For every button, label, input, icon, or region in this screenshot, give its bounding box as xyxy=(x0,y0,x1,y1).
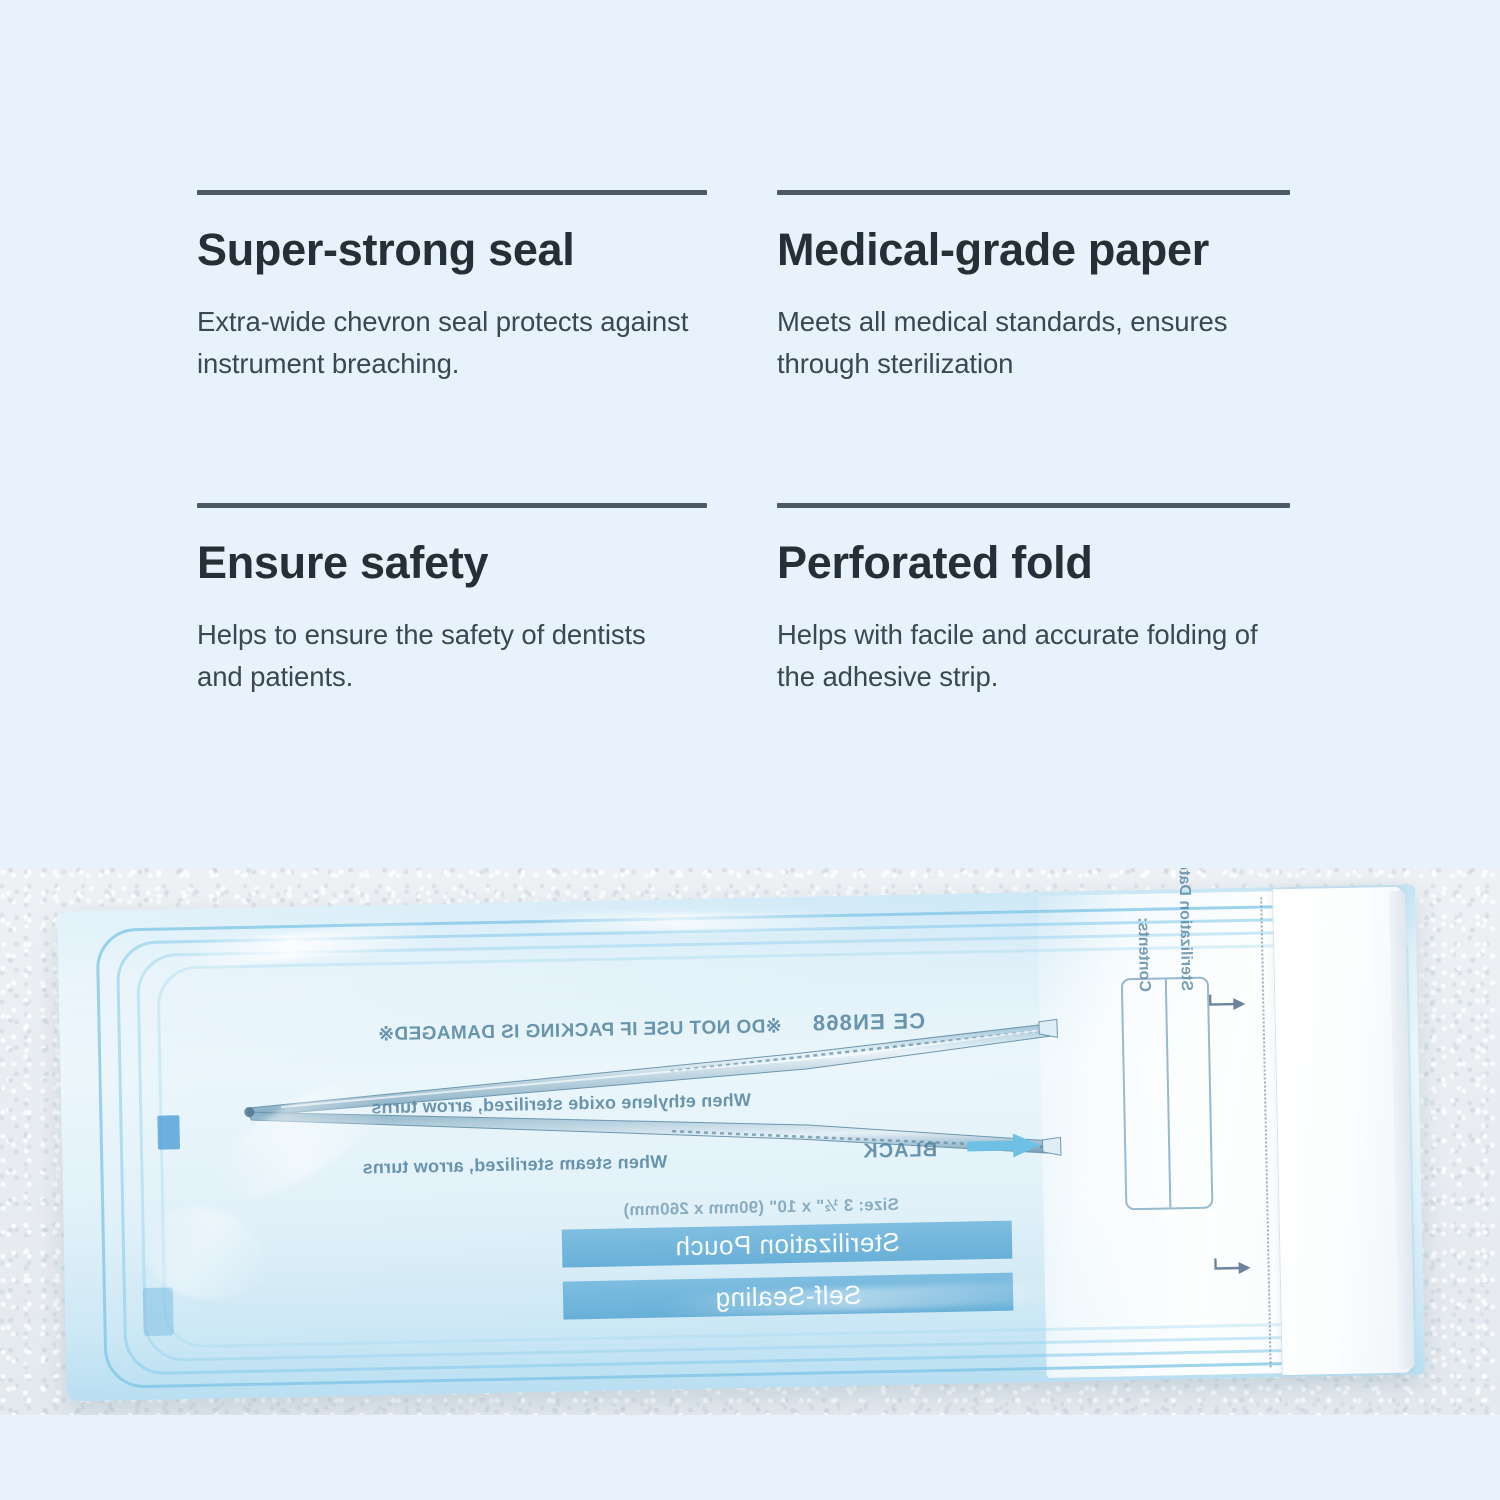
contents-label: Contents: xyxy=(1134,917,1153,992)
sterilization-indicator-arrow-icon xyxy=(967,1132,1042,1159)
feature-title: Super-strong seal xyxy=(197,195,707,275)
sterilization-indicator-patch xyxy=(157,1115,180,1149)
fold-arrow-icon xyxy=(1212,1256,1252,1279)
feature-card-medical-grade-paper: Medical-grade paper Meets all medical st… xyxy=(777,190,1290,503)
sterilization-date-box: Contents: Sterilization Date xyxy=(1121,977,1214,1211)
pouch-subtitle-text: Self-Sealing xyxy=(715,1279,862,1313)
feature-title: Ensure safety xyxy=(197,508,707,588)
feature-description: Helps with facile and accurate folding o… xyxy=(777,588,1277,698)
feature-grid: Super-strong seal Extra-wide chevron sea… xyxy=(197,190,1290,816)
feature-description: Extra-wide chevron seal protects against… xyxy=(197,275,697,385)
pouch-certification-marks: CE EN868 xyxy=(811,1008,925,1036)
infographic-page: Super-strong seal Extra-wide chevron sea… xyxy=(0,0,1500,1500)
date-box-divider xyxy=(1165,979,1172,1207)
product-photo: ※DO NOT USE IF PACKING IS DAMAGED※ CE EN… xyxy=(0,868,1500,1415)
sterilization-date-label: Sterilization Date xyxy=(1174,868,1195,991)
feature-description: Meets all medical standards, ensures thr… xyxy=(777,275,1277,385)
feature-title: Medical-grade paper xyxy=(777,195,1290,275)
fold-arrow-icon xyxy=(1207,992,1247,1015)
pouch-indicator-color-text: BLACK xyxy=(862,1139,937,1164)
sterilization-pouch: ※DO NOT USE IF PACKING IS DAMAGED※ CE EN… xyxy=(57,884,1425,1401)
feature-title: Perforated fold xyxy=(777,508,1290,588)
feature-description: Helps to ensure the safety of dentists a… xyxy=(197,588,697,698)
feature-card-ensure-safety: Ensure safety Helps to ensure the safety… xyxy=(197,503,707,816)
feature-card-perforated-fold: Perforated fold Helps with facile and ac… xyxy=(777,503,1290,816)
seal-corner-patch xyxy=(143,1287,174,1336)
pouch-title-text: Sterilization Pouch xyxy=(674,1226,899,1262)
feature-card-super-strong-seal: Super-strong seal Extra-wide chevron sea… xyxy=(197,190,707,503)
